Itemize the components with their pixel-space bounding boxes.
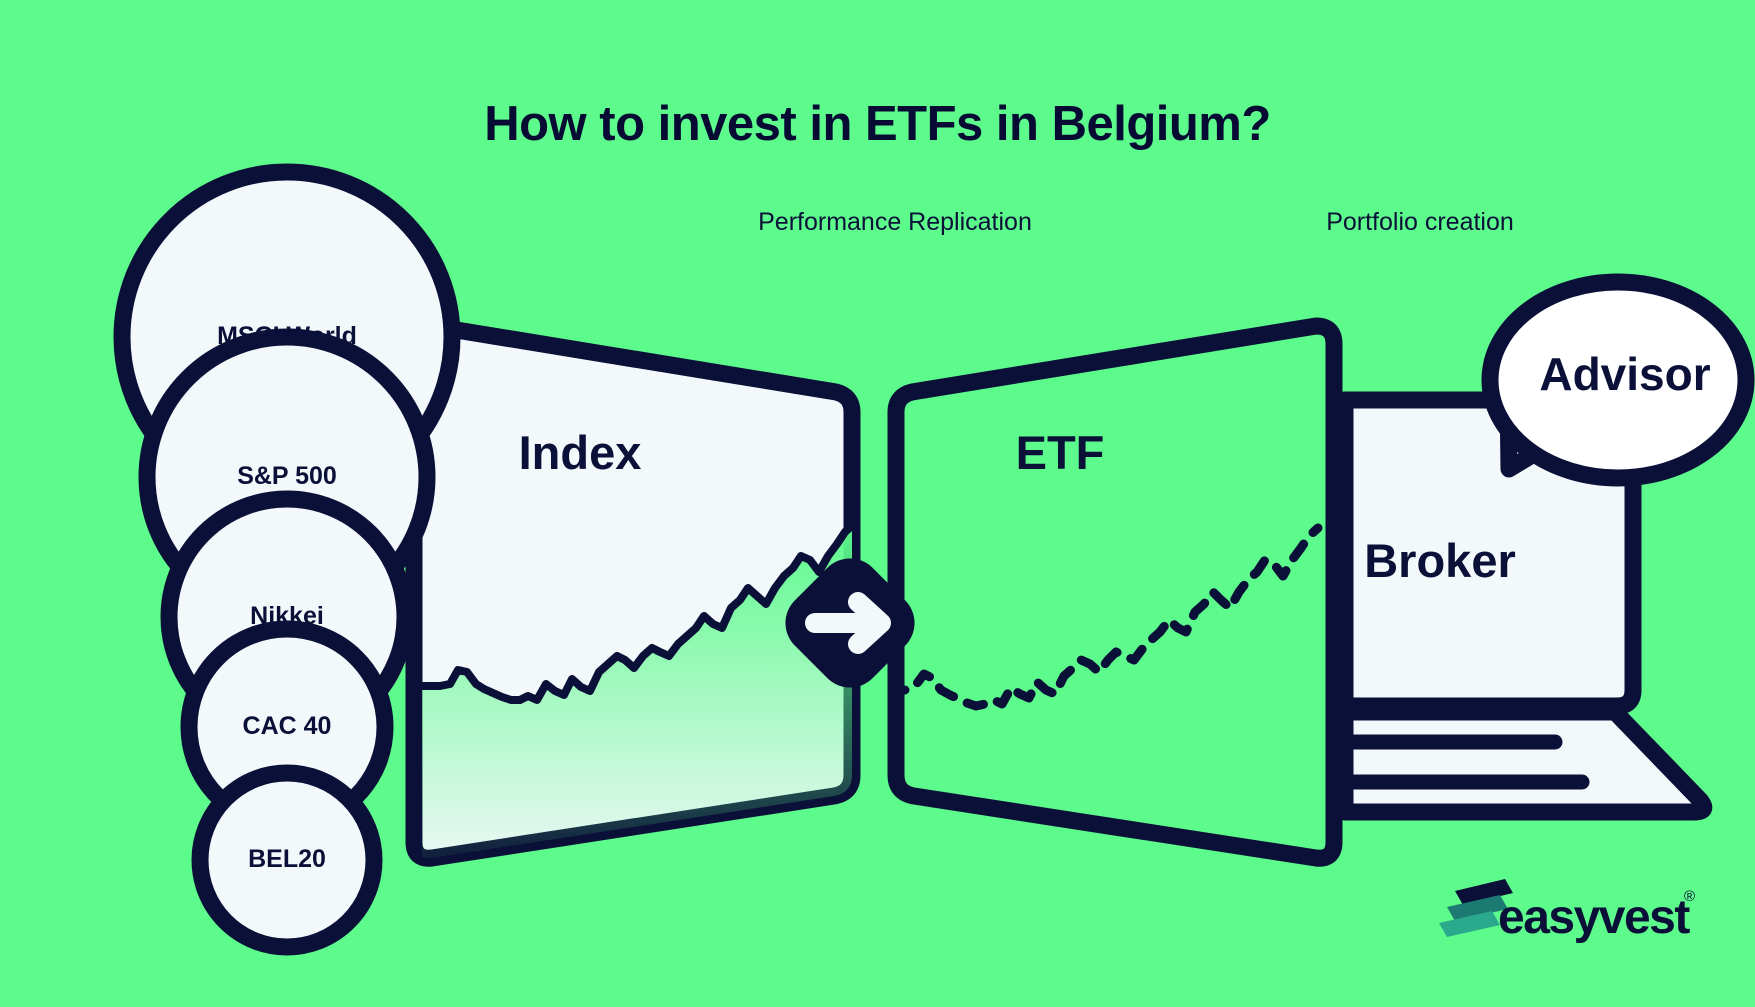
index-panel[interactable] <box>414 326 854 880</box>
advisor-speech-bubble[interactable] <box>1490 282 1746 478</box>
reference-index-circles <box>122 172 452 947</box>
index-circle-bel20[interactable] <box>200 773 374 947</box>
speech-bubble-body <box>1490 282 1746 478</box>
etf-panel-shape <box>896 326 1334 858</box>
infographic-root: How to invest in ETFs in Belgium? Refere… <box>0 0 1755 1007</box>
laptop-base <box>1345 712 1704 812</box>
easyvest-logo-text[interactable]: easyvest <box>1498 890 1689 945</box>
easyvest-logo-registered: ® <box>1684 888 1695 905</box>
diagram-canvas <box>0 0 1755 1007</box>
etf-panel[interactable] <box>888 326 1334 858</box>
